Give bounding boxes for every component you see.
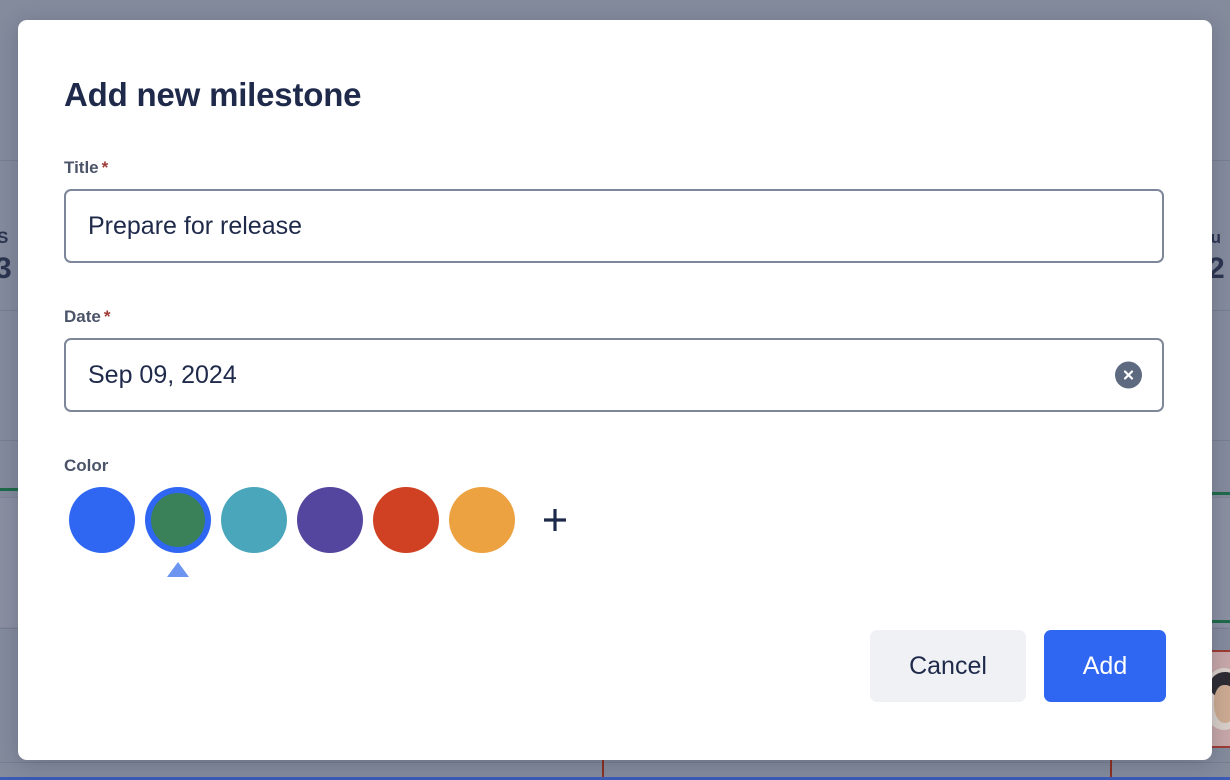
add-milestone-dialog: Add new milestone Title* Date*: [18, 20, 1212, 760]
date-label-text: Date: [64, 307, 101, 326]
avatar-face-skin: [1214, 685, 1230, 723]
color-swatch-green[interactable]: [140, 487, 216, 577]
color-dot: [449, 487, 515, 553]
title-label-text: Title: [64, 158, 99, 177]
color-swatch-blue[interactable]: [64, 487, 140, 577]
date-field-group: Date*: [64, 307, 1166, 412]
title-field-label: Title*: [64, 158, 1166, 178]
screen: S 3 hu 2 Add new milestone Title*: [0, 0, 1230, 780]
gantt-day-label: S: [0, 228, 9, 248]
color-swatch-red[interactable]: [368, 487, 444, 577]
title-input[interactable]: [64, 189, 1164, 263]
color-dot: [297, 487, 363, 553]
gantt-gridline: [0, 762, 1230, 763]
color-field-group: Color: [64, 456, 1166, 577]
color-field-label: Color: [64, 456, 1166, 476]
dialog-title: Add new milestone: [64, 62, 1166, 114]
plus-icon[interactable]: [526, 487, 584, 553]
date-input[interactable]: [64, 338, 1164, 412]
gantt-day-number: 3: [0, 252, 12, 286]
clear-date-icon[interactable]: [1115, 362, 1142, 389]
required-asterisk: *: [104, 307, 111, 326]
title-field-group: Title*: [64, 158, 1166, 263]
color-dot: [69, 487, 135, 553]
dialog-actions: Cancel Add: [870, 630, 1166, 702]
required-asterisk: *: [102, 158, 109, 177]
color-swatch-teal[interactable]: [216, 487, 292, 577]
date-field-label: Date*: [64, 307, 1166, 327]
color-dot: [221, 487, 287, 553]
add-button[interactable]: Add: [1044, 630, 1166, 702]
color-dot: [373, 487, 439, 553]
color-swatch-row: [64, 487, 1166, 577]
color-dot: [151, 493, 205, 547]
color-swatch-orange[interactable]: [444, 487, 520, 577]
color-swatch-purple[interactable]: [292, 487, 368, 577]
cancel-button[interactable]: Cancel: [870, 630, 1026, 702]
selected-caret-icon: [167, 562, 189, 577]
